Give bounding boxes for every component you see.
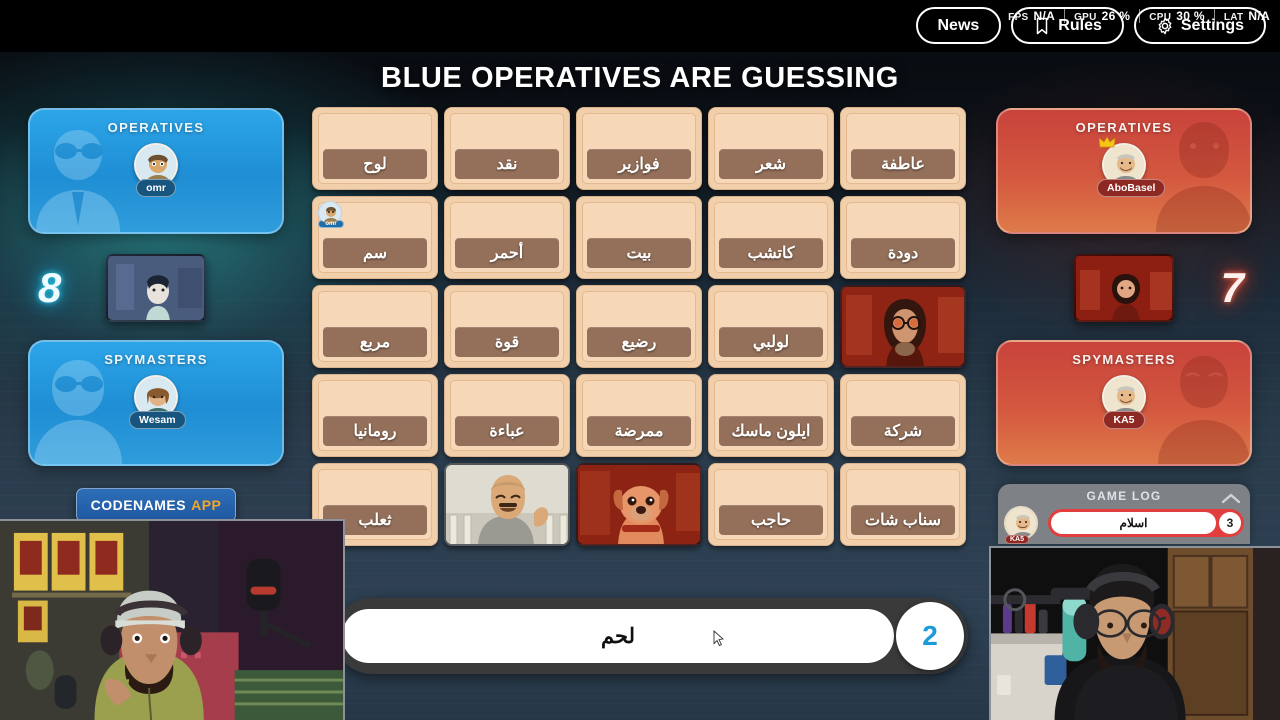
word-card-label: دودة <box>851 238 955 268</box>
turn-status-title: BLUE OPERATIVES ARE GUESSING <box>0 62 1280 95</box>
agent-portrait-icon <box>1076 256 1174 322</box>
word-card-label: فوازير <box>587 149 691 179</box>
blue-team-panel: OPERATIVES omr <box>28 108 284 466</box>
word-card-face: رضيع <box>582 291 696 362</box>
word-card-face: دودة <box>846 202 960 273</box>
word-card-label: لولبي <box>719 327 823 357</box>
word-card-label: بيت <box>587 238 691 268</box>
word-card-face: قوة <box>450 291 564 362</box>
agent-portrait-icon <box>108 256 206 322</box>
word-card[interactable]: ايلون ماسك <box>708 374 834 457</box>
word-card[interactable]: قوة <box>444 285 570 368</box>
word-card-label: شعر <box>719 149 823 179</box>
streamer-webcam-right <box>989 546 1280 720</box>
word-card[interactable]: شركة <box>840 374 966 457</box>
word-card[interactable]: عاطفة <box>840 107 966 190</box>
word-card-face: رومانيا <box>318 380 432 451</box>
neutral-agent-card[interactable] <box>444 463 570 546</box>
red-spymasters-members: KA5 <box>998 375 1250 429</box>
word-card-face: كاتشب <box>714 202 828 273</box>
player-nametag: KA5 <box>1103 411 1144 429</box>
word-card[interactable]: رومانيا <box>312 374 438 457</box>
red-agent-card-preview <box>1074 254 1174 322</box>
chevron-up-icon[interactable] <box>1222 492 1240 504</box>
red-agent-card[interactable] <box>840 285 966 368</box>
neutral-bystander-portrait-icon <box>446 465 570 546</box>
clue-count-badge[interactable]: 2 <box>896 602 964 670</box>
blue-operative-member[interactable]: omr <box>129 143 183 197</box>
word-card-label: مربع <box>323 327 427 357</box>
word-card-label: ممرضة <box>587 416 691 446</box>
webcam-right-scene <box>991 548 1280 720</box>
word-card[interactable]: مربع <box>312 285 438 368</box>
red-operative-member[interactable]: AboBasel <box>1097 143 1151 197</box>
crown-icon <box>1099 136 1115 148</box>
blue-operatives-members: omr <box>30 143 282 197</box>
log-entry-avatar-wrap: KA5 <box>1004 506 1042 540</box>
settings-button[interactable]: Settings <box>1134 7 1266 44</box>
word-card-label: عباءة <box>455 416 559 446</box>
word-card-label: نقد <box>455 149 559 179</box>
bookmark-icon <box>1033 17 1051 35</box>
blue-operatives-box[interactable]: OPERATIVES omr <box>28 108 284 234</box>
word-card-face: شعر <box>714 113 828 184</box>
player-nametag: omr <box>136 179 176 197</box>
red-agent-portrait-icon <box>842 287 966 368</box>
codenames-app-word2: APP <box>191 497 221 513</box>
gear-icon <box>1156 17 1174 35</box>
word-card-label: عاطفة <box>851 149 955 179</box>
word-card-label: سناب شات <box>851 505 955 535</box>
word-grid: لوح نقد فوازير شعر عاطفة omr <box>312 107 966 546</box>
log-entry-clue-pill: اسلام 3 <box>1048 509 1244 537</box>
word-card-face: أحمر <box>450 202 564 273</box>
word-card[interactable]: كاتشب <box>708 196 834 279</box>
red-score-row: 7 <box>996 246 1252 330</box>
word-card[interactable]: نقد <box>444 107 570 190</box>
red-team-panel: OPERATIVES <box>996 108 1252 466</box>
game-screen: FPS N/A GPU 26 % CPU 30 % LAT N/A News <box>0 0 1280 720</box>
blue-spymasters-title: SPYMASTERS <box>30 342 282 367</box>
game-log-entry: KA5 اسلام 3 <box>1004 506 1244 540</box>
word-card-face: لوح <box>318 113 432 184</box>
news-button-label: News <box>938 17 980 35</box>
settings-button-label: Settings <box>1181 17 1244 35</box>
red-operatives-box[interactable]: OPERATIVES <box>996 108 1252 234</box>
blue-agent-card-preview <box>106 254 206 322</box>
word-card-face: ايلون ماسك <box>714 380 828 451</box>
word-card-label: رضيع <box>587 327 691 357</box>
red-agent-pug-icon <box>578 465 702 546</box>
player-nametag: AboBasel <box>1097 179 1165 197</box>
log-entry-player: KA5 <box>1005 535 1029 544</box>
word-card[interactable]: أحمر <box>444 196 570 279</box>
word-card[interactable]: بيت <box>576 196 702 279</box>
word-card-face: سناب شات <box>846 469 960 540</box>
nav-button-group: News Rules Settings <box>916 7 1267 44</box>
word-card-face: بيت <box>582 202 696 273</box>
word-card-label: شركة <box>851 416 955 446</box>
word-card-label: كاتشب <box>719 238 823 268</box>
word-card-label: حاجب <box>719 505 823 535</box>
word-card[interactable]: omr سم <box>312 196 438 279</box>
game-log-panel: GAME LOG KA5 اسلام <box>998 484 1250 544</box>
word-card-face: شركة <box>846 380 960 451</box>
game-log-title: GAME LOG <box>998 484 1250 506</box>
word-card-label: ايلون ماسك <box>719 416 823 446</box>
word-card-face: حاجب <box>714 469 828 540</box>
webcam-left-scene <box>0 521 343 720</box>
word-card-face: عاطفة <box>846 113 960 184</box>
word-card[interactable]: فوازير <box>576 107 702 190</box>
word-card[interactable]: لولبي <box>708 285 834 368</box>
word-card[interactable]: سناب شات <box>840 463 966 546</box>
word-card-face: فوازير <box>582 113 696 184</box>
guess-marker: omr <box>318 201 344 228</box>
red-spymaster-member[interactable]: KA5 <box>1097 375 1151 429</box>
streamer-webcam-left <box>0 519 345 720</box>
blue-operatives-title: OPERATIVES <box>30 110 282 135</box>
word-card[interactable]: دودة <box>840 196 966 279</box>
word-card[interactable]: لوح <box>312 107 438 190</box>
word-card[interactable]: حاجب <box>708 463 834 546</box>
news-button[interactable]: News <box>916 7 1002 44</box>
red-score: 7 <box>1221 267 1244 309</box>
blue-spymasters-members: Wesam <box>30 375 282 429</box>
word-card[interactable]: عباءة <box>444 374 570 457</box>
red-operatives-title: OPERATIVES <box>998 110 1250 135</box>
red-spymasters-box[interactable]: SPYMASTERS KA5 <box>996 340 1252 466</box>
codenames-app-word1: CODENAMES <box>91 497 187 513</box>
word-card-label: رومانيا <box>323 416 427 446</box>
top-bar: FPS N/A GPU 26 % CPU 30 % LAT N/A News <box>0 0 1280 52</box>
word-card-label: لوح <box>323 149 427 179</box>
blue-score-row: 8 <box>28 246 284 330</box>
word-card[interactable]: ممرضة <box>576 374 702 457</box>
word-card-face: مربع <box>318 291 432 362</box>
word-card-label: قوة <box>455 327 559 357</box>
rules-button-label: Rules <box>1058 17 1102 35</box>
red-agent-card[interactable] <box>576 463 702 546</box>
word-card-label: سم <box>323 238 427 268</box>
log-entry-clue-word: اسلام <box>1051 512 1216 534</box>
word-card[interactable]: رضيع <box>576 285 702 368</box>
word-card[interactable]: شعر <box>708 107 834 190</box>
codenames-app-button[interactable]: CODENAMES APP <box>76 488 236 522</box>
blue-spymasters-box[interactable]: SPYMASTERS Wesam <box>28 340 284 466</box>
blue-score: 8 <box>38 267 61 309</box>
clue-bar: لحم 2 <box>334 598 968 674</box>
word-card-face: لولبي <box>714 291 828 362</box>
word-card-face: نقد <box>450 113 564 184</box>
log-entry-clue-count: 3 <box>1219 512 1241 534</box>
word-card-face: عباءة <box>450 380 564 451</box>
word-card-label: أحمر <box>455 238 559 268</box>
blue-spymaster-member[interactable]: Wesam <box>129 375 183 429</box>
rules-button[interactable]: Rules <box>1011 7 1124 44</box>
red-spymasters-title: SPYMASTERS <box>998 342 1250 367</box>
red-operatives-members: AboBasel <box>998 143 1250 197</box>
clue-word[interactable]: لحم <box>342 609 894 663</box>
player-nametag: Wesam <box>129 411 186 429</box>
word-card-face: ممرضة <box>582 380 696 451</box>
